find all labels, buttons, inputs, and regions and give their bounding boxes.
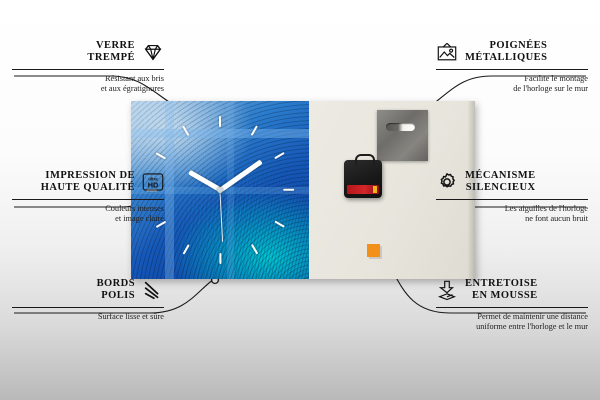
feature-title-line: VERRE — [87, 40, 135, 52]
feature-title-line: POIGNÉES — [465, 40, 547, 52]
infographic-stage: VERRE TREMPÉ Résistant aux bris et aux é… — [0, 0, 600, 400]
feature-bords-polis: BORDS POLIS Surface lisse et sûre — [12, 278, 164, 322]
feature-poignees-metalliques: POIGNÉES MÉTALLIQUES Facilite le montage… — [436, 40, 588, 95]
foam-spacer — [367, 244, 380, 257]
hanger-loop-icon — [355, 154, 375, 165]
polished-edges-icon — [142, 279, 164, 301]
feature-desc-line: ne font aucun bruit — [436, 214, 588, 225]
gear-icon — [436, 171, 458, 193]
foam-spacer-arrow-icon — [436, 279, 458, 301]
diamond-icon — [142, 41, 164, 63]
feature-title-line: MÉTALLIQUES — [465, 52, 547, 64]
feature-desc-line: uniforme entre l'horloge et le mur — [436, 322, 588, 333]
wall-mount-frame-icon — [436, 41, 458, 63]
feature-title-line: EN MOUSSE — [465, 290, 538, 302]
feature-title-line: HAUTE QUALITÉ — [41, 182, 135, 194]
battery — [347, 185, 379, 194]
feature-desc-line: Couleurs intenses — [12, 204, 164, 215]
feature-title-line: SILENCIEUX — [465, 182, 536, 194]
divider — [436, 199, 588, 200]
feature-title-line: TREMPÉ — [87, 52, 135, 64]
feature-desc-line: Facilite le montage — [436, 74, 588, 85]
product-photo — [131, 101, 475, 279]
svg-text:HD: HD — [148, 181, 159, 190]
feature-desc-line: et aux égratignures — [12, 84, 164, 95]
feature-impression-haute-qualite: IMPRESSION DE HAUTE QUALITÉ ultra HD Cou… — [12, 170, 164, 225]
feature-desc-line: Surface lisse et sûre — [12, 312, 164, 323]
second-hand — [219, 190, 223, 242]
divider — [436, 69, 588, 70]
feature-desc-line: Permet de maintenir une distance — [436, 312, 588, 323]
metal-hanger-plate — [377, 110, 428, 161]
feature-title-line: MÉCANISME — [465, 170, 536, 182]
feature-title-line: POLIS — [97, 290, 135, 302]
feature-title-line: IMPRESSION DE — [41, 170, 135, 182]
divider — [12, 307, 164, 308]
feature-desc-line: et image claire — [12, 214, 164, 225]
feature-entretoise-en-mousse: ENTRETOISE EN MOUSSE Permet de maintenir… — [436, 278, 588, 333]
divider — [12, 199, 164, 200]
feature-desc-line: Les aiguilles de l'horloge — [436, 204, 588, 215]
feature-verre-trempe: VERRE TREMPÉ Résistant aux bris et aux é… — [12, 40, 164, 95]
feature-title-line: ENTRETOISE — [465, 278, 538, 290]
feature-mecanisme-silencieux: MÉCANISME SILENCIEUX Les aiguilles de l'… — [436, 170, 588, 225]
feature-title-line: BORDS — [97, 278, 135, 290]
minute-hand — [219, 159, 263, 191]
divider — [12, 69, 164, 70]
hand-cap — [217, 187, 223, 193]
feature-desc-line: Résistant aux bris — [12, 74, 164, 85]
feature-desc-line: de l'horloge sur le mur — [436, 84, 588, 95]
ultra-hd-badge-icon: ultra HD — [142, 171, 164, 193]
divider — [436, 307, 588, 308]
quartz-movement-box — [344, 160, 382, 198]
